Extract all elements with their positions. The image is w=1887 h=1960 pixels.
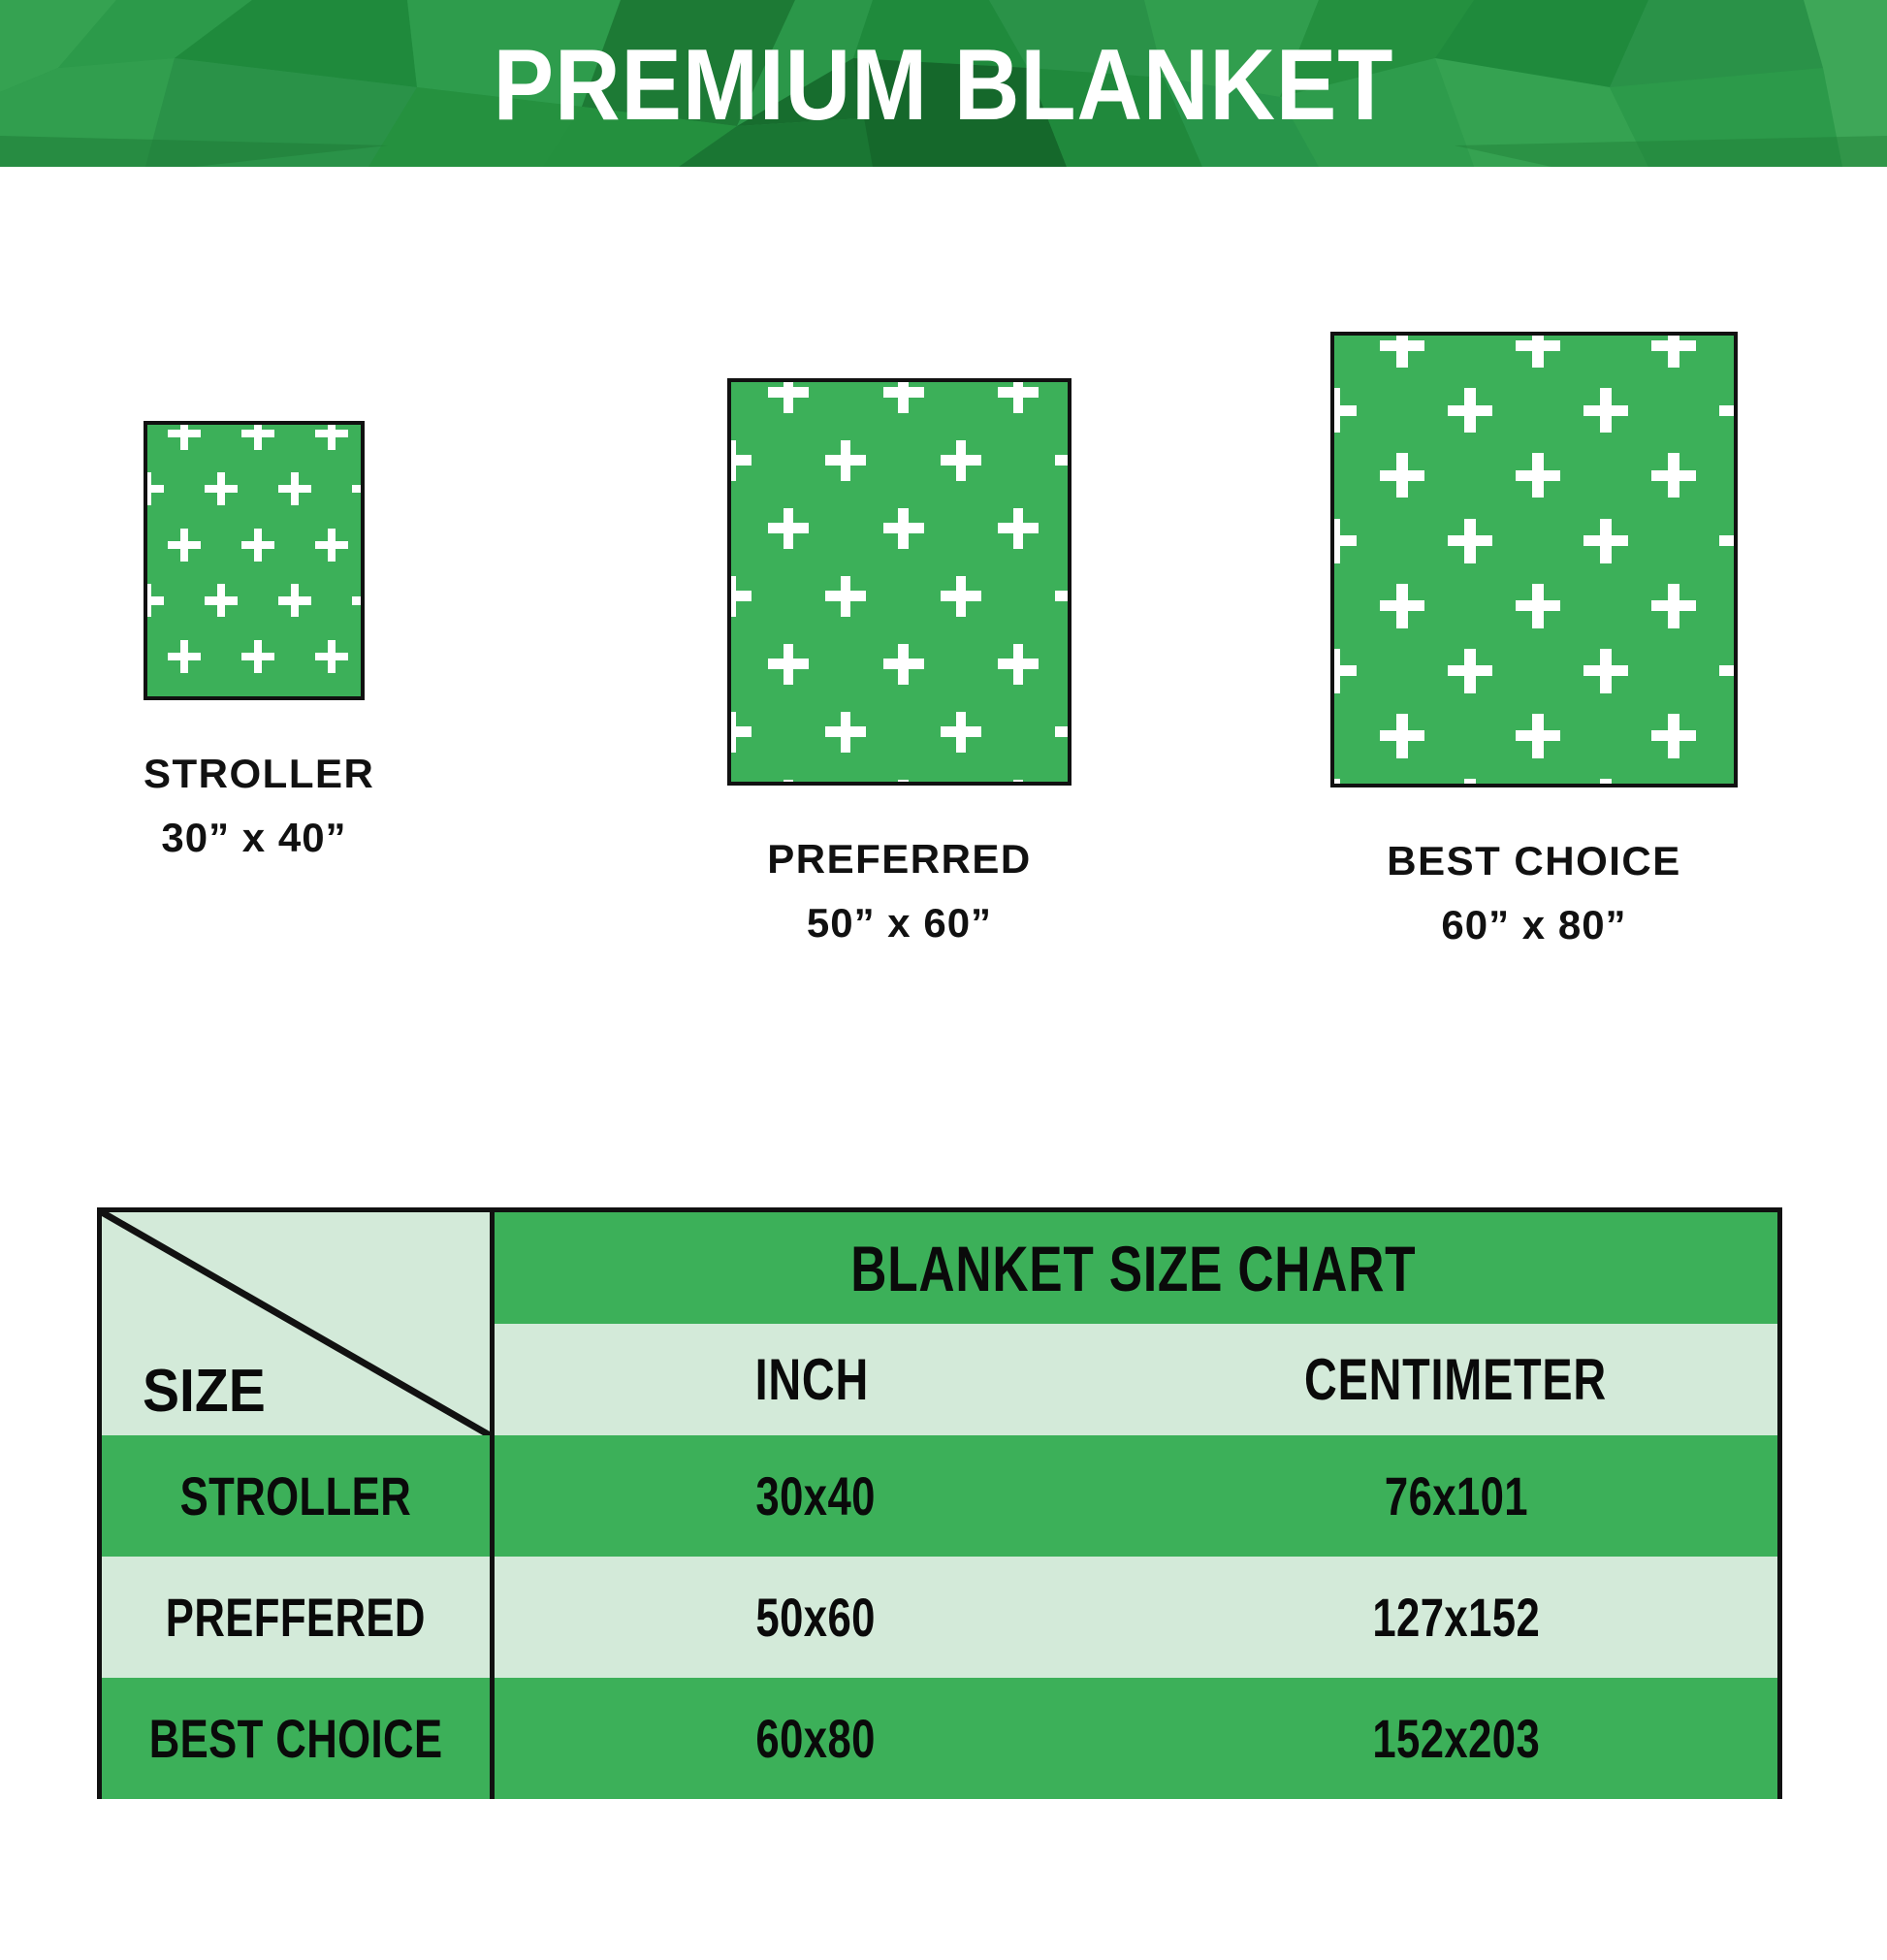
plus-icon	[1380, 714, 1424, 758]
plus-icon	[1330, 779, 1357, 787]
plus-icon	[727, 576, 752, 617]
plus-icon	[883, 508, 924, 549]
cell-inch: 60x80	[495, 1712, 1136, 1766]
cell-inch-text: 30x40	[755, 1469, 875, 1524]
plus-icon	[1380, 584, 1424, 628]
plus-icon	[241, 640, 274, 673]
plus-icon	[241, 529, 274, 562]
plus-icon	[1516, 714, 1560, 758]
cell-size-text: PREFFERED	[166, 1590, 426, 1645]
swatch-name-best-choice: BEST CHOICE	[1330, 838, 1738, 884]
cell-size-text: STROLLER	[180, 1469, 411, 1524]
plus-icon	[727, 712, 752, 753]
cell-size: BEST CHOICE	[102, 1678, 490, 1799]
plus-icon	[1651, 584, 1696, 628]
swatch-dimension-best-choice: 60” x 80”	[1330, 902, 1738, 948]
plus-icon	[1380, 332, 1424, 368]
plus-icon	[998, 378, 1039, 413]
cell-measurements: 30x4076x101	[490, 1435, 1777, 1557]
table-title: BLANKET SIZE CHART	[850, 1237, 1416, 1301]
cell-measurements: 60x80152x203	[490, 1678, 1777, 1799]
size-corner-cell: SIZE	[102, 1212, 490, 1435]
cell-centimeter-text: 76x101	[1385, 1469, 1528, 1524]
plus-icon	[1516, 584, 1560, 628]
plus-icon	[1719, 388, 1738, 433]
table-row: PREFFERED50x60127x152	[102, 1557, 1777, 1678]
plus-icon	[768, 378, 809, 413]
plus-icon	[352, 584, 365, 617]
plus-icon	[144, 696, 164, 700]
plus-icon	[1330, 519, 1357, 563]
cell-inch: 30x40	[495, 1469, 1136, 1524]
plus-icon	[205, 472, 238, 505]
plus-icon	[883, 378, 924, 413]
cell-inch: 50x60	[495, 1590, 1136, 1645]
blanket-size-chart-table: BLANKET SIZE CHART INCH CENTIMETER SIZE …	[97, 1207, 1782, 1799]
plus-icon	[241, 421, 274, 450]
plus-icon	[1719, 649, 1738, 693]
plus-icon	[825, 576, 866, 617]
plus-icon	[1448, 649, 1492, 693]
plus-icon	[883, 644, 924, 685]
plus-icon	[1651, 714, 1696, 758]
plus-icon	[1330, 649, 1357, 693]
cell-centimeter-text: 152x203	[1373, 1712, 1541, 1766]
page-title: PREMIUM BLANKET	[94, 0, 1792, 167]
plus-icon	[1055, 712, 1071, 753]
plus-icon	[768, 508, 809, 549]
plus-icon	[1651, 453, 1696, 498]
blanket-swatch-preferred	[727, 378, 1071, 786]
swatch-name-preferred: PREFERRED	[727, 836, 1071, 883]
cell-centimeter-text: 127x152	[1373, 1590, 1541, 1645]
plus-icon	[1719, 519, 1738, 563]
plus-icon	[825, 712, 866, 753]
cell-measurements: 50x60127x152	[490, 1557, 1777, 1678]
column-header-inch: INCH	[490, 1351, 1134, 1409]
plus-icon	[1380, 453, 1424, 498]
plus-icon	[315, 640, 348, 673]
cell-centimeter: 127x152	[1136, 1590, 1778, 1645]
corner-cell-divider	[490, 1212, 495, 1435]
cell-size-text: BEST CHOICE	[149, 1712, 443, 1766]
plus-icon	[1651, 332, 1696, 368]
plus-icon	[883, 780, 924, 787]
plus-icon	[1516, 332, 1560, 368]
cell-inch-text: 50x60	[755, 1590, 875, 1645]
plus-icon	[1330, 388, 1357, 433]
cell-size: STROLLER	[102, 1435, 490, 1557]
plus-icon	[352, 696, 365, 700]
plus-icon	[278, 472, 311, 505]
plus-icon	[1055, 440, 1071, 481]
plus-icon	[825, 440, 866, 481]
swatch-dimension-preferred: 50” x 60”	[727, 900, 1071, 947]
cell-centimeter: 76x101	[1136, 1469, 1778, 1524]
plus-icon	[1583, 779, 1628, 787]
blanket-swatch-gallery: STROLLER30” x 40”PREFERRED50” x 60”BEST …	[0, 167, 1887, 1166]
plus-icon	[1516, 453, 1560, 498]
table-title-cell: BLANKET SIZE CHART	[490, 1212, 1777, 1324]
plus-icon	[205, 584, 238, 617]
plus-icon	[1583, 519, 1628, 563]
plus-icon	[168, 529, 201, 562]
plus-icon	[1055, 576, 1071, 617]
plus-icon	[768, 780, 809, 787]
plus-icon	[1583, 649, 1628, 693]
plus-icon	[998, 508, 1039, 549]
plus-icon	[998, 644, 1039, 685]
plus-icon	[941, 576, 981, 617]
plus-icon	[168, 640, 201, 673]
plus-icon	[205, 696, 238, 700]
plus-icon	[768, 644, 809, 685]
blanket-swatch-best-choice	[1330, 332, 1738, 787]
cell-centimeter: 152x203	[1136, 1712, 1778, 1766]
column-headers-cell: INCH CENTIMETER	[490, 1324, 1777, 1435]
plus-icon	[998, 780, 1039, 787]
size-column-label: SIZE	[143, 1362, 266, 1422]
plus-icon	[278, 696, 311, 700]
swatch-dimension-stroller: 30” x 40”	[144, 815, 365, 861]
plus-icon	[1448, 388, 1492, 433]
table-row: BEST CHOICE60x80152x203	[102, 1678, 1777, 1799]
plus-icon	[1448, 519, 1492, 563]
plus-icon	[1448, 779, 1492, 787]
column-header-centimeter: CENTIMETER	[1134, 1351, 1777, 1409]
plus-icon	[144, 584, 164, 617]
blanket-swatch-stroller	[144, 421, 365, 700]
plus-icon	[727, 440, 752, 481]
page-header: PREMIUM BLANKET	[0, 0, 1887, 167]
plus-icon	[352, 472, 365, 505]
cell-size: PREFFERED	[102, 1557, 490, 1678]
swatch-name-stroller: STROLLER	[144, 751, 365, 797]
plus-icon	[941, 440, 981, 481]
plus-icon	[168, 421, 201, 450]
plus-icon	[278, 584, 311, 617]
table-row: STROLLER30x4076x101	[102, 1435, 1777, 1557]
plus-icon	[1719, 779, 1738, 787]
cell-inch-text: 60x80	[755, 1712, 875, 1766]
plus-icon	[315, 529, 348, 562]
plus-icon	[941, 712, 981, 753]
plus-icon	[144, 472, 164, 505]
plus-icon	[1583, 388, 1628, 433]
plus-icon	[315, 421, 348, 450]
